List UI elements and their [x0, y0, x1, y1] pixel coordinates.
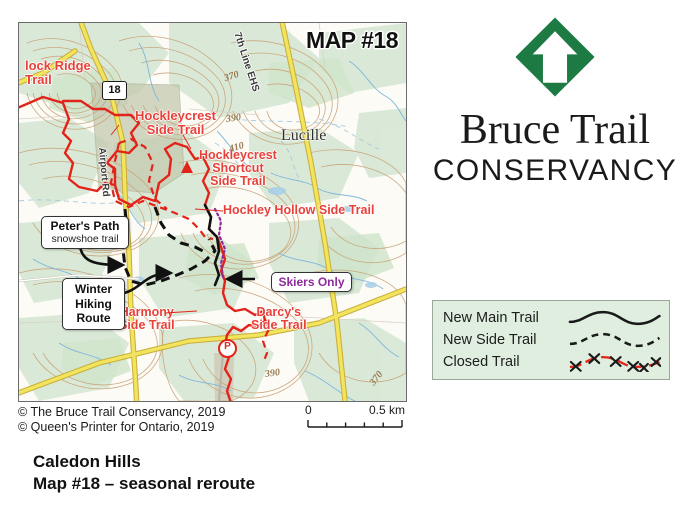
callout-winter-line3: Route: [67, 311, 120, 326]
credit-line-2: © Queen's Printer for Ontario, 2019: [18, 420, 214, 434]
legend-swatch-solid-line: [568, 308, 661, 328]
highway-shield-18: 18: [102, 81, 127, 100]
callout-peters-path[interactable]: Peter's Path snowshoe trail: [41, 216, 129, 249]
trail-label-hockleycrest-side: Hockleycrest Side Trail: [135, 109, 216, 136]
callout-skiers-only[interactable]: Skiers Only: [271, 272, 352, 292]
scale-max-label: 0.5 km: [369, 403, 405, 417]
trail-label-hemlock-ridge: lock Ridge Trail: [25, 59, 91, 86]
caption-map-subtitle: Map #18 – seasonal reroute: [33, 474, 255, 494]
legend-label-new-side-trail: New Side Trail: [443, 332, 568, 348]
trail-label-hockleycrest-shortcut: Hockleycrest Shortcut Side Trail: [199, 149, 277, 188]
trail-label-hockley-hollow: Hockley Hollow Side Trail: [223, 204, 374, 217]
map-title: MAP #18: [306, 27, 398, 54]
map-panel[interactable]: MAP #18 18 P lock Ridge Trail Hockleycre…: [18, 22, 407, 402]
legend-swatch-closed-trail: [568, 352, 661, 372]
contour-label-390-a: 390: [225, 112, 241, 125]
callout-skiers-title: Skiers Only: [276, 275, 347, 289]
credit-line-1: © The Bruce Trail Conservancy, 2019: [18, 405, 225, 419]
map-legend: New Main Trail New Side Trail Closed Tra…: [432, 300, 670, 380]
scale-bar: 0 0.5 km: [305, 403, 405, 430]
callout-peters-subtitle: snowshoe trail: [48, 233, 122, 246]
bruce-trail-conservancy-logo: Bruce Trail CONSERVANCY: [420, 14, 690, 188]
legend-row-new-main-trail: New Main Trail: [443, 307, 661, 329]
caption-area-name: Caledon Hills: [33, 452, 141, 472]
scale-bar-ticks: [305, 418, 405, 430]
callout-winter-line2: Hiking: [67, 297, 120, 312]
scale-min-label: 0: [305, 403, 312, 417]
legend-row-new-side-trail: New Side Trail: [443, 329, 661, 351]
legend-label-closed-trail: Closed Trail: [443, 354, 568, 370]
callout-winter-line1: Winter: [67, 282, 120, 297]
callout-winter-hiking-route[interactable]: Winter Hiking Route: [62, 278, 125, 330]
legend-swatch-dashed-line: [568, 330, 661, 350]
trail-label-darcys-side: Darcy's Side Trail: [251, 306, 307, 332]
logo-wordmark-secondary: CONSERVANCY: [420, 154, 690, 188]
legend-row-closed-trail: Closed Trail: [443, 351, 661, 373]
callout-peters-title: Peter's Path: [48, 219, 122, 233]
contour-label-390-b: 390: [264, 367, 280, 380]
bruce-trail-blaze-icon: [512, 14, 598, 100]
parking-icon: P: [218, 339, 237, 358]
logo-wordmark-primary: Bruce Trail: [420, 106, 690, 154]
trail-label-harmony-side: Harmony Side Trail: [119, 306, 175, 332]
legend-label-new-main-trail: New Main Trail: [443, 310, 568, 326]
place-label-lucille: Lucille: [281, 127, 326, 145]
